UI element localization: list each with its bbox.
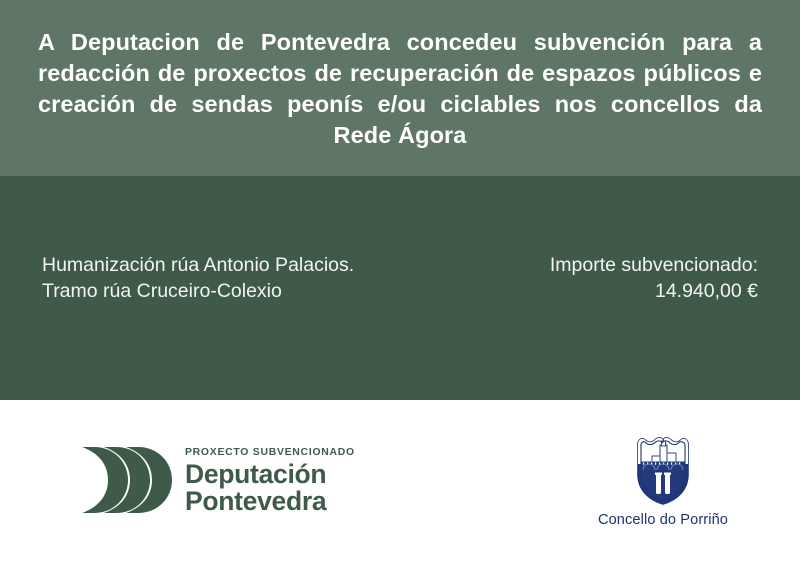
subsidy-amount-label: Importe subvencionado: <box>550 252 758 278</box>
project-summary-row: Humanización rúa Antonio Palacios. Tramo… <box>42 252 758 304</box>
deputacion-name-line-1: Deputación <box>185 461 355 488</box>
footer-band: PROXECTO SUBVENCIONADO Deputación Pontev… <box>0 400 800 566</box>
project-name-line-1: Humanización rúa Antonio Palacios. <box>42 252 354 278</box>
deputacion-name-line-2: Pontevedra <box>185 488 355 515</box>
subsidy-amount-value: 14.940,00 € <box>550 278 758 304</box>
porrino-shield-crest-icon <box>635 434 691 506</box>
concello-porrino-name: Concello do Porriño <box>598 512 728 528</box>
subsidy-amount-block: Importe subvencionado: 14.940,00 € <box>550 252 758 304</box>
project-name-line-2: Tramo rúa Cruceiro-Colexio <box>42 278 354 304</box>
body-band: Humanización rúa Antonio Palacios. Tramo… <box>0 176 800 400</box>
deputacion-pontevedra-logo: PROXECTO SUBVENCIONADO Deputación Pontev… <box>78 445 355 515</box>
header-band: A Deputacion de Pontevedra concedeu subv… <box>0 0 800 176</box>
deputacion-wordmark: PROXECTO SUBVENCIONADO Deputación Pontev… <box>185 446 355 515</box>
project-name-block: Humanización rúa Antonio Palacios. Tramo… <box>42 252 354 304</box>
deputacion-kicker: PROXECTO SUBVENCIONADO <box>185 447 355 459</box>
three-crescents-icon <box>78 445 172 515</box>
concello-porrino-logo: Concello do Porriño <box>588 434 738 528</box>
subsidy-poster: A Deputacion de Pontevedra concedeu subv… <box>0 0 800 566</box>
page-title: A Deputacion de Pontevedra concedeu subv… <box>38 25 762 151</box>
